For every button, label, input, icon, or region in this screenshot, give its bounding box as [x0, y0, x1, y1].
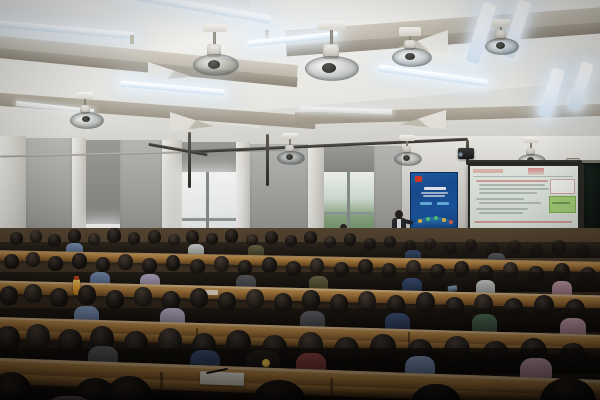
banner-dot: [442, 218, 446, 222]
banner-dot: [426, 217, 430, 221]
banner-logo-icon: [415, 176, 422, 182]
banner-dot: [449, 220, 453, 224]
student-head: [68, 229, 81, 243]
fan-mount-5: [492, 19, 510, 27]
slide-footer-line: [474, 221, 572, 223]
fan-hub-5: [496, 42, 505, 49]
banner-dot: [434, 216, 438, 220]
banner-title-text: [424, 187, 446, 190]
audience-area: [0, 228, 600, 400]
fan-mount-7: [399, 135, 415, 141]
fan-hub-4: [405, 53, 415, 60]
wall-column-4: [236, 142, 250, 242]
projection-screen[interactable]: [470, 166, 578, 228]
slide-box-text: [552, 202, 570, 204]
student-head: [134, 287, 152, 307]
fan-hub-6: [286, 154, 293, 160]
student-head: [142, 258, 157, 273]
student-head: [190, 288, 208, 308]
wall-pipe-vertical-2: [266, 134, 269, 186]
window-blind-2[interactable]: [120, 140, 162, 240]
fan-mount-3: [318, 21, 345, 30]
fan-mount-6: [282, 133, 298, 139]
slide-outlined-box: [550, 179, 575, 194]
bottle-cap-icon: [74, 276, 79, 280]
presenter-head: [395, 210, 403, 219]
slide-logo-icon: [528, 168, 544, 175]
window-blind-5[interactable]: [324, 146, 374, 172]
slide-highlight-box: [549, 196, 576, 213]
student-head: [225, 229, 238, 243]
student-head: [118, 254, 133, 270]
student-head: [50, 288, 68, 307]
slide-text-line: [479, 184, 545, 186]
wall-pipe-vertical-1: [188, 132, 191, 188]
slide-text-line: [479, 192, 537, 194]
student-head: [262, 257, 277, 273]
banner-tag: [420, 202, 432, 205]
slide-text-line: [479, 212, 523, 214]
event-banner: [410, 172, 458, 234]
fan-hub-2: [208, 60, 220, 69]
student-head: [214, 256, 229, 272]
student-head: [302, 290, 320, 310]
banner-subtitle-text: [421, 192, 448, 194]
tube-holder-1: [130, 35, 134, 44]
student-head: [26, 324, 50, 350]
ceiling-beam-mid-right: [295, 104, 600, 125]
student-head: [48, 256, 63, 271]
slide-text-line: [476, 180, 548, 182]
student-head: [0, 286, 18, 305]
fan-hub-1: [82, 116, 90, 122]
slide-text-line: [479, 188, 549, 190]
lecture-hall-photo: [0, 0, 600, 400]
banner-dot: [418, 219, 422, 223]
fan-mount-8: [523, 137, 539, 143]
student-head: [26, 252, 40, 267]
fan-mount-2: [203, 24, 227, 32]
student-head: [24, 284, 42, 303]
jacket-badge: [262, 359, 270, 367]
fan-mount-1: [77, 92, 94, 99]
fan-hub-3: [322, 63, 336, 73]
student-head: [72, 253, 87, 269]
wall-column-5: [308, 144, 324, 240]
fan-mount-4: [399, 27, 421, 36]
banner-subtitle-text: [423, 195, 445, 197]
projector-lens-icon: [458, 152, 463, 157]
slide-text-line: [476, 198, 524, 200]
slide-text-line: [476, 208, 528, 210]
slide-header-band: [473, 169, 503, 173]
banner-tag: [437, 202, 449, 205]
fan-hub-7: [403, 155, 410, 161]
foreground-shadow: [0, 388, 600, 400]
student-head: [106, 290, 124, 309]
student-head: [78, 285, 96, 305]
student-head: [166, 255, 180, 271]
student-head: [107, 228, 121, 243]
student-head: [4, 254, 19, 269]
student-head: [96, 257, 110, 272]
student-head: [246, 289, 264, 309]
window-frame-h-1: [182, 218, 236, 221]
slide-header-rule: [473, 176, 573, 177]
slide-text-line: [479, 202, 541, 204]
